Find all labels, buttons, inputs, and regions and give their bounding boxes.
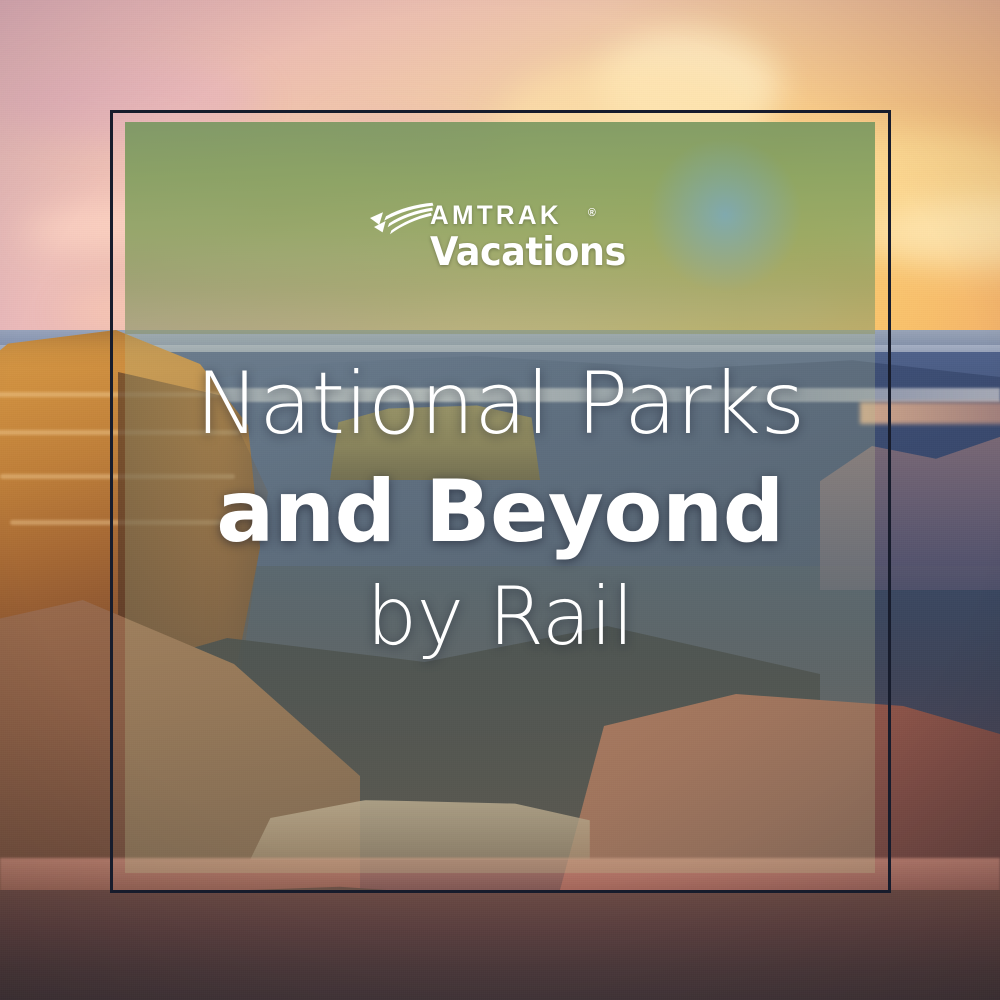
headline-line-3: by Rail <box>125 568 875 666</box>
vacations-wordmark: Vacations <box>430 230 626 276</box>
headline-line-2: and Beyond <box>125 456 875 568</box>
headline-block: National Parks and Beyond by Rail <box>125 352 875 666</box>
amtrak-wordmark: AMTRAK <box>430 200 562 230</box>
headline-line-1: National Parks <box>125 352 875 456</box>
promo-graphic: AMTRAK ® Vacations National Parks and Be… <box>0 0 1000 1000</box>
amtrak-vacations-logo[interactable]: AMTRAK ® Vacations <box>370 198 640 286</box>
amtrak-swoosh-icon <box>370 202 434 236</box>
registered-trademark-icon: ® <box>588 198 596 228</box>
